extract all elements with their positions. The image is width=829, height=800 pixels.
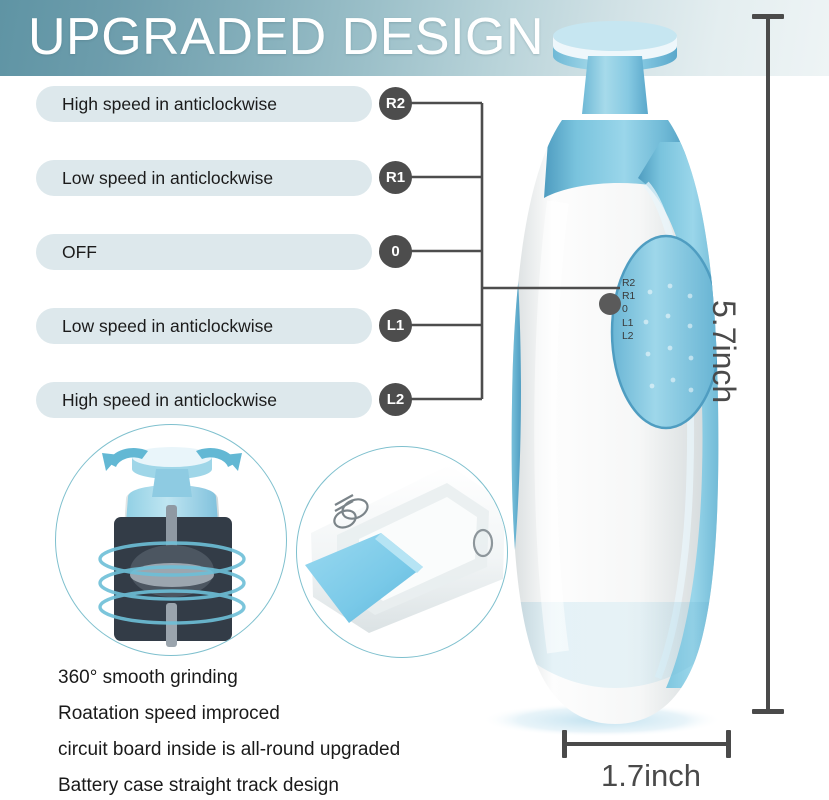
feature-pill-r2: High speed in anticlockwise	[36, 86, 372, 122]
height-dimension-line	[766, 14, 770, 714]
switch-mark-l1: L1	[622, 317, 635, 330]
switch-mark-0: 0	[622, 303, 635, 316]
width-dimension-cap-right	[726, 730, 731, 758]
page-title: UPGRADED DESIGN	[28, 2, 544, 72]
caption-line-3: circuit board inside is all-round upgrad…	[58, 732, 488, 768]
height-dimension-cap-bottom	[752, 709, 784, 714]
width-dimension-cap-left	[562, 730, 567, 758]
width-dimension-line	[563, 742, 731, 746]
grinder-cap-top	[553, 21, 677, 51]
infographic-page: UPGRADED DESIGN High speed in anticlockw…	[0, 0, 829, 800]
feature-pill-r1: Low speed in anticlockwise	[36, 160, 372, 196]
feature-label: OFF	[62, 242, 97, 263]
feature-pill-l2: High speed in anticlockwise	[36, 382, 372, 418]
width-dimension-label: 1.7inch	[566, 758, 736, 794]
feature-label: High speed in anticlockwise	[62, 94, 277, 115]
feature-pill-l1: Low speed in anticlockwise	[36, 308, 372, 344]
switch-mark-r1: R1	[622, 290, 635, 303]
feature-pill-off: OFF	[36, 234, 372, 270]
speed-badge-l1: L1	[379, 309, 412, 342]
feature-label: High speed in anticlockwise	[62, 390, 277, 411]
speed-badge-r2: R2	[379, 87, 412, 120]
caption-block: 360° smooth grinding Roatation speed imp…	[58, 660, 488, 800]
feature-row: High speed in anticlockwise L2	[36, 382, 456, 456]
motor-shaft-bottom	[166, 603, 177, 647]
grinder-cutaway-art	[56, 425, 287, 656]
switch-mark-r2: R2	[622, 277, 635, 290]
height-dimension-label: 5.7inch	[705, 300, 742, 403]
height-dimension-cap-top	[752, 14, 784, 19]
caption-line-2: Roatation speed improced	[58, 696, 488, 732]
speed-badge-l2: L2	[379, 383, 412, 416]
feature-label: Low speed in anticlockwise	[62, 316, 273, 337]
speed-badge-off: 0	[379, 235, 412, 268]
caption-line-4: Battery case straight track design	[58, 768, 488, 800]
switch-position-marks: R2 R1 0 L1 L2	[622, 277, 635, 343]
battery-compartment-art	[297, 447, 508, 658]
caption-line-1: 360° smooth grinding	[58, 660, 488, 696]
cutaway-neck	[152, 469, 192, 497]
inset-grinder-cutaway	[55, 424, 287, 656]
feature-label: Low speed in anticlockwise	[62, 168, 273, 189]
speed-badge-r1: R1	[379, 161, 412, 194]
switch-mark-l2: L2	[622, 330, 635, 343]
inset-battery-compartment	[296, 446, 508, 658]
